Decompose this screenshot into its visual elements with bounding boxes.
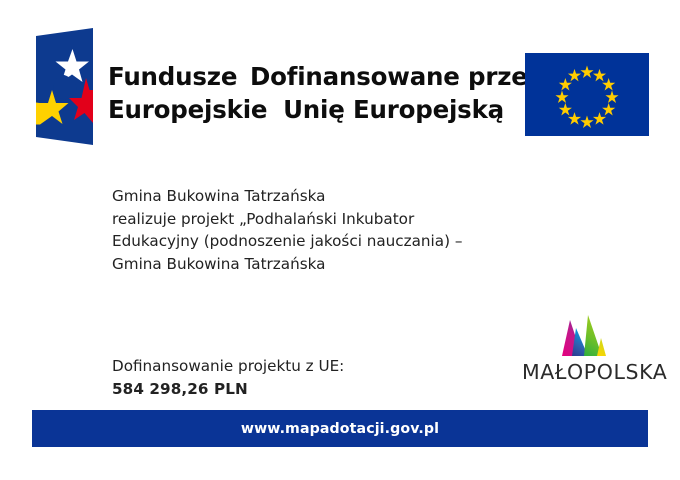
footer-url[interactable]: www.mapadotacji.gov.pl [241,421,439,437]
project-line: realizuje projekt „Podhalański Inkubator [112,208,542,231]
funding-label: Dofinansowanie projektu z UE: [112,355,442,378]
project-line: Gmina Bukowina Tatrzańska [112,253,542,276]
header-band: Fundusze Europejskie Dofinansowane przez… [0,28,680,153]
project-line: Gmina Bukowina Tatrzańska [112,185,542,208]
project-line: Edukacyjny (podnoszenie jakości nauczani… [112,230,542,253]
fe-wordmark-line-1: Fundusze [108,60,258,93]
fe-wordmark-line-2: Europejskie [108,93,258,126]
funding-block: Dofinansowanie projektu z UE: 584 298,26… [112,355,442,400]
european-union-flag-icon [525,53,649,136]
eu-caption-line-2: Unię Europejską [250,93,504,126]
project-description: Gmina Bukowina Tatrzańska realizuje proj… [112,185,542,275]
poster-canvas: Fundusze Europejskie Dofinansowane przez… [0,0,680,480]
eu-funding-caption: Dofinansowane przez Unię Europejską [250,60,504,126]
malopolska-mountain-mark-icon [552,312,614,360]
malopolska-logo: MAŁOPOLSKA [522,312,658,390]
fundusze-europejskie-logo-icon [36,28,100,153]
eu-caption-line-1: Dofinansowane przez [250,60,504,93]
funding-amount: 584 298,26 PLN [112,378,442,401]
fundusze-europejskie-wordmark: Fundusze Europejskie [108,60,258,126]
footer-bar: www.mapadotacji.gov.pl [32,410,648,447]
malopolska-wordmark: MAŁOPOLSKA [522,360,658,384]
